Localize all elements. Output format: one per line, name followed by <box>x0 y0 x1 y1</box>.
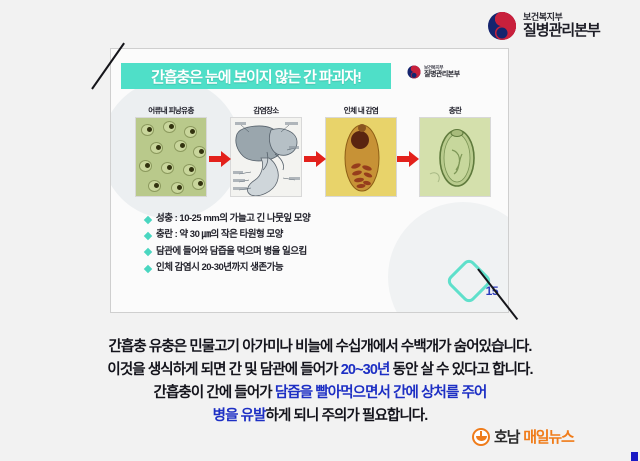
corner-flourish-decor <box>452 260 500 306</box>
diamond-bullet-icon <box>144 248 152 256</box>
caption-highlight-duration: 20~30년 <box>341 362 390 378</box>
caption-block: 간흡충 유충은 민물고기 아가미나 비늘에 수십개에서 수백개가 숨어있습니다.… <box>0 336 640 428</box>
lifecycle-stage-3: 인체 내 감염 <box>325 105 397 197</box>
egg-micrograph <box>419 117 491 197</box>
adult-fluke-micrograph <box>325 117 397 197</box>
red-arrow-icon-1 <box>209 151 231 167</box>
caption-line-3: 간흡충이 간에 들어가 담즙을 빨아먹으면서 간에 상처를 주어 <box>0 382 640 405</box>
diamond-bullet-icon <box>144 232 152 240</box>
lifecycle-stage-2-label: 감염장소 <box>230 105 302 117</box>
government-logo: 보건복지부 질병관리본부 <box>487 8 637 44</box>
caption-line-3-prefix: 간흡충이 간에 들어가 <box>154 385 275 401</box>
diamond-bullet-icon <box>144 264 152 272</box>
lifecycle-stage-4-label: 충란 <box>419 105 491 117</box>
caption-line-1-text: 간흡충 유충은 민물고기 아가미나 비늘에 수십개에서 수백개가 숨어있습니다. <box>108 339 531 355</box>
bullet-text: 충란 : 약 30 ㎛의 작은 타원형 모양 <box>156 229 283 241</box>
bullet-list: 성충 : 10-25 mm의 가늘고 긴 나뭇잎 모양 충란 : 약 30 ㎛의… <box>145 213 465 279</box>
lifecycle-stage-1-label: 어류내 피낭유충 <box>135 105 207 117</box>
taegeuk-icon-small <box>407 65 421 79</box>
bullet-item: 충란 : 약 30 ㎛의 작은 타원형 모양 <box>145 229 465 241</box>
corner-artifact <box>631 452 638 461</box>
caption-line-1: 간흡충 유충은 민물고기 아가미나 비늘에 수십개에서 수백개가 숨어있습니다. <box>0 336 640 359</box>
caption-line-4: 병을 유발하게 되니 주의가 필요합니다. <box>0 405 640 428</box>
watermark-logo: 호남매일뉴스 <box>472 426 574 447</box>
slide-title-text: 간흡충은 눈에 보이지 않는 간 파괴자! <box>151 66 361 87</box>
bullet-text: 성충 : 10-25 mm의 가늘고 긴 나뭇잎 모양 <box>156 213 310 225</box>
caption-line-2-suffix: 동안 살 수 있다고 합니다. <box>389 362 532 378</box>
gov-logo-main: 질병관리본부 <box>523 23 600 39</box>
lifecycle-stage-1: 어류내 피낭유충 <box>135 105 207 197</box>
caption-highlight-bile: 담즙을 빨아먹으면서 간에 상처를 주어 <box>275 385 487 401</box>
bullet-item: 인체 감염시 20-30년까지 생존가능 <box>145 262 465 274</box>
lifecycle-stage-2: 감염장소 <box>230 105 302 197</box>
slide-logo-main: 질병관리본부 <box>424 71 460 79</box>
lifecycle-stage-3-label: 인체 내 감염 <box>325 105 397 117</box>
caption-line-4-suffix: 하게 되니 주의가 필요합니다. <box>266 408 428 424</box>
taegeuk-icon <box>487 11 517 41</box>
liver-anatomy-diagram <box>230 117 302 197</box>
caption-highlight-disease: 병을 유발 <box>213 408 266 424</box>
watermark-text-primary: 호남 <box>494 426 519 447</box>
bullet-item: 담관에 들어와 담즙을 먹으며 병을 일으킴 <box>145 246 465 258</box>
bullet-text: 담관에 들어와 담즙을 먹으며 병을 일으킴 <box>156 246 307 258</box>
slide-kdca-logo: 보건복지부 질병관리본부 <box>407 65 460 79</box>
caption-line-2-prefix: 이것을 생식하게 되면 간 및 담관에 들어가 <box>107 362 340 378</box>
lifecycle-stage-4: 충란 <box>419 105 491 197</box>
diamond-bullet-icon <box>144 215 152 223</box>
bullet-text: 인체 감염시 20-30년까지 생존가능 <box>156 262 283 274</box>
slide-title-bar: 간흡충은 눈에 보이지 않는 간 파괴자! <box>121 63 391 89</box>
metacercariae-micrograph <box>135 117 207 197</box>
caption-line-2: 이것을 생식하게 되면 간 및 담관에 들어가 20~30년 동안 살 수 있다… <box>0 359 640 382</box>
red-arrow-icon-3 <box>397 151 419 167</box>
lifecycle-diagram: 어류내 피낭유충 감염장소 <box>135 105 491 205</box>
honam-mark-icon <box>472 428 490 446</box>
bullet-item: 성충 : 10-25 mm의 가늘고 긴 나뭇잎 모양 <box>145 213 465 225</box>
slide-card: 간흡충은 눈에 보이지 않는 간 파괴자! 보건복지부 질병관리본부 어류내 피… <box>110 48 509 313</box>
watermark-text-secondary: 매일뉴스 <box>523 426 573 447</box>
red-arrow-icon-2 <box>304 151 326 167</box>
